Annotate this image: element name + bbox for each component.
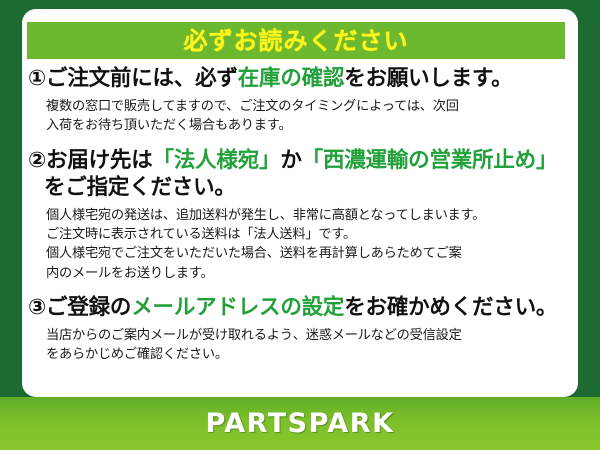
spacer	[28, 136, 572, 143]
brand-wordmark: PARTSPARK	[205, 408, 394, 439]
notice-item-heading: ②お届け先は「法人様宛」か「西濃運輸の営業所止め」	[28, 147, 572, 174]
notice-item: ②お届け先は「法人様宛」か「西濃運輸の営業所止め」をご指定ください。個人様宅宛の…	[28, 147, 572, 290]
notice-item-marker: ①	[28, 66, 46, 91]
heading-text: お届け先は	[46, 148, 153, 173]
heading-text: ご登録の	[46, 295, 131, 320]
notice-item-detail-line: 個人様宅宛の発送は、追加送料が発生し、非常に高額となってしまいます。	[28, 206, 572, 225]
notice-item-marker: ③	[28, 295, 46, 320]
notice-item: ③ご登録のメールアドレスの設定をお確かめください。当店からのご案内メールが受け取…	[28, 294, 572, 372]
spacer	[28, 364, 572, 371]
notice-item-detail-line: 入荷をお待ち頂いただく場合もあります。	[28, 116, 572, 135]
notice-item-detail-line: 複数の窓口で販売してますので、ご注文のタイミングによっては、次回	[28, 97, 572, 116]
notice-item-heading-line2: をご指定ください。	[28, 174, 572, 201]
heading-highlight: メールアドレスの設定	[131, 295, 344, 320]
notice-card: 必ずお読みください ①ご注文前には、必ず在庫の確認をお願いします。複数の窓口で販…	[22, 9, 578, 397]
heading-text: ご注文前には、必ず	[46, 66, 238, 91]
notice-item: ①ご注文前には、必ず在庫の確認をお願いします。複数の窓口で販売してますので、ご注…	[28, 65, 572, 143]
heading-text: か	[280, 148, 301, 173]
notice-item-marker: ②	[28, 148, 46, 173]
heading-text: をお願いします。	[344, 66, 512, 91]
notice-item-detail-line: ご注文時に表示されている送料は「法人送料」です。	[28, 225, 572, 244]
notice-item-heading: ③ご登録のメールアドレスの設定をお確かめください。	[28, 294, 572, 321]
heading-highlight: 「西濃運輸の営業所止め」	[302, 148, 558, 173]
heading-highlight: 「法人様宛」	[153, 148, 281, 173]
heading-highlight: 在庫の確認	[238, 66, 345, 91]
notice-item-detail-line: 当店からのご案内メールが受け取れるよう、迷惑メールなどの受信設定	[28, 326, 572, 345]
banner-title: 必ずお読みください	[184, 29, 409, 53]
heading-text: をお確かめください。	[344, 295, 557, 320]
spacer	[28, 283, 572, 290]
notice-banner: 必ずお読みください	[27, 22, 565, 59]
notice-item-detail-line: 内のメールをお送りします。	[28, 264, 572, 283]
footer-band: PARTSPARK	[0, 397, 600, 450]
notice-body: ①ご注文前には、必ず在庫の確認をお願いします。複数の窓口で販売してますので、ご注…	[22, 65, 578, 375]
notice-item-detail-line: 個人様宅宛でご注文をいただいた場合、送料を再計算しあらためてご案	[28, 244, 572, 263]
outer-green-frame: 必ずお読みください ①ご注文前には、必ず在庫の確認をお願いします。複数の窓口で販…	[0, 0, 600, 450]
notice-item-heading: ①ご注文前には、必ず在庫の確認をお願いします。	[28, 65, 572, 92]
notice-item-detail-line: をあらかじめご確認ください。	[28, 345, 572, 364]
